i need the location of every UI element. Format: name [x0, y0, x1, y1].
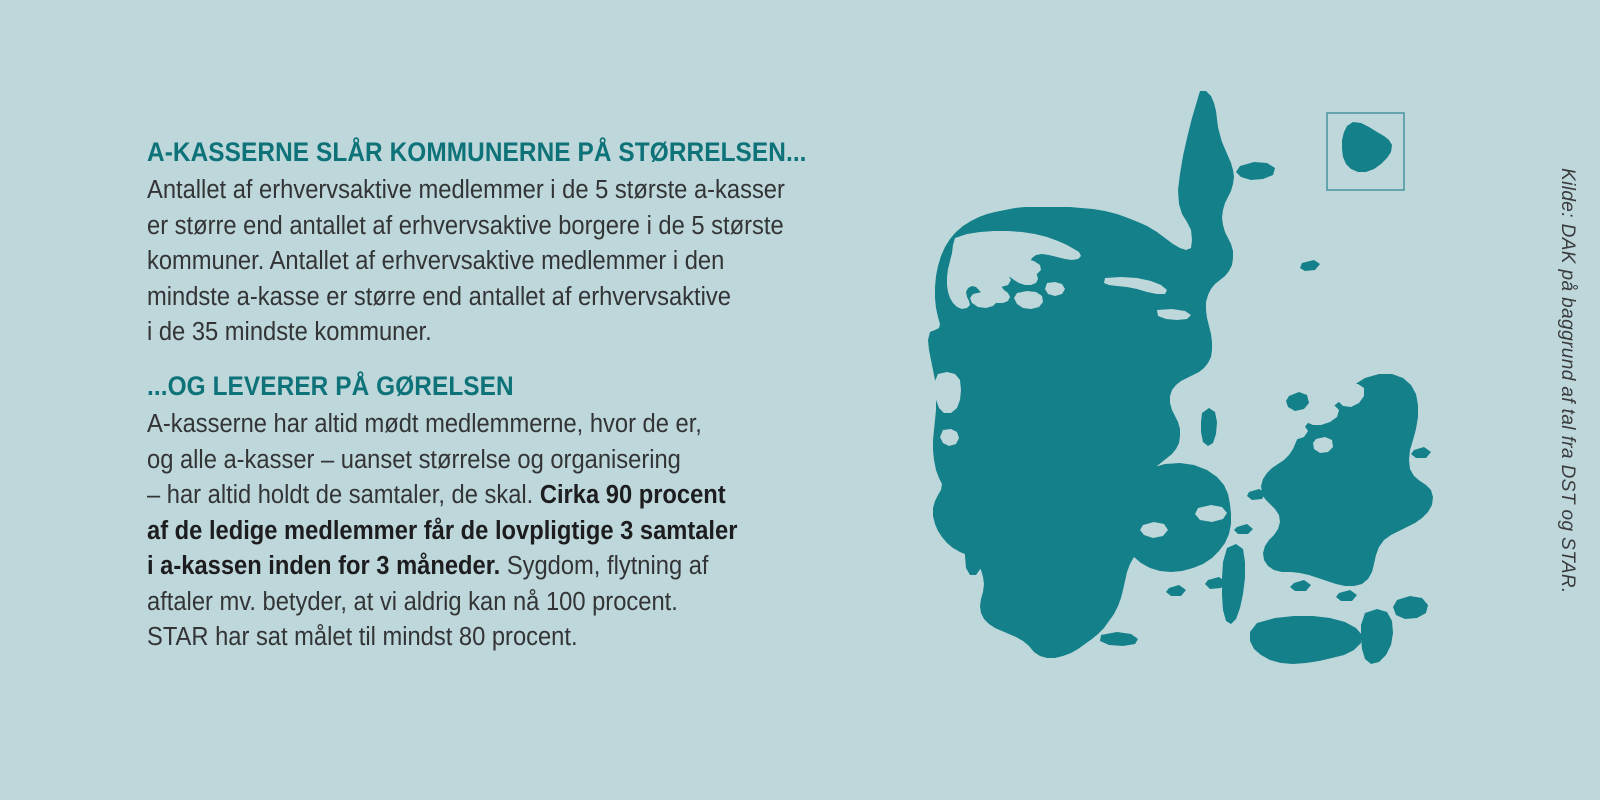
- small-island-7: [1336, 590, 1357, 601]
- anholt-island: [1300, 260, 1320, 271]
- small-island-6: [1411, 447, 1431, 458]
- block-1-body: Antallet af erhvervsaktive medlemmer i d…: [147, 173, 854, 351]
- block-2-bold-mid: af de ledige medlemmer får de lovpligtig…: [147, 517, 737, 545]
- infographic-canvas: A-KASSERNE SLÅR KOMMUNERNE PÅ STØRRELSEN…: [0, 0, 1600, 800]
- samso-island: [1201, 408, 1217, 446]
- block-2-heading: ...OG LEVERER PÅ GØRELSEN: [147, 372, 865, 401]
- text-block-2: ...OG LEVERER PÅ GØRELSEN A-kasserne har…: [147, 372, 927, 656]
- lolland-island: [1250, 616, 1362, 664]
- block-2-bold-start: Cirka 90 procent: [540, 481, 726, 509]
- block-2-line-2: og alle a-kasser – uanset størrelse og o…: [147, 446, 681, 474]
- block-1-line-2: er større end antallet af erhvervsaktive…: [147, 212, 784, 240]
- block-2-line-6: aftaler mv. betyder, at vi aldrig kan nå…: [147, 588, 678, 616]
- block-1-heading: A-KASSERNE SLÅR KOMMUNERNE PÅ STØRRELSEN…: [147, 138, 846, 167]
- block-1-line-3: kommuner. Antallet af erhvervsaktive med…: [147, 247, 724, 275]
- ringkobing-fjord: [935, 372, 961, 413]
- text-block-1: A-KASSERNE SLÅR KOMMUNERNE PÅ STØRRELSEN…: [147, 138, 907, 351]
- block-1-line-4: mindste a-kasse er større end antallet a…: [147, 283, 731, 311]
- block-2-line-7: STAR har sat målet til mindst 80 procent…: [147, 623, 578, 651]
- block-1-line-1: Antallet af erhvervsaktive medlemmer i d…: [147, 176, 785, 204]
- denmark-map: [895, 78, 1465, 708]
- bornholm-island: [1342, 122, 1392, 172]
- aero-island: [1100, 632, 1138, 646]
- block-2-line-3-plain: – har altid holdt de samtaler, de skal.: [147, 481, 540, 509]
- small-island-8: [1290, 580, 1311, 591]
- block-2-body: A-kasserne har altid mødt medlemmerne, h…: [147, 407, 872, 656]
- small-island-1: [1234, 524, 1253, 534]
- block-1-line-5: i de 35 mindste kommuner.: [147, 318, 432, 346]
- bornholm-inset: [1327, 113, 1404, 190]
- denmark-map-svg: [895, 78, 1465, 708]
- limfjord-water-6: [1045, 282, 1065, 296]
- falster-island: [1361, 609, 1393, 664]
- langeland-island: [1222, 544, 1245, 624]
- block-2-line-5-plain: Sygdom, flytning af: [500, 552, 708, 580]
- block-2-bold-end: i a-kassen inden for 3 måneder.: [147, 552, 500, 580]
- mon-island: [1393, 596, 1428, 619]
- small-island-5: [1166, 585, 1186, 596]
- block-2-line-1: A-kasserne har altid mødt medlemmerne, h…: [147, 410, 702, 438]
- source-note: Kilde: DAK på baggrund af tal fra DST og…: [1556, 168, 1578, 594]
- laeso-island: [1236, 162, 1275, 180]
- denmark-landmass: [928, 91, 1433, 664]
